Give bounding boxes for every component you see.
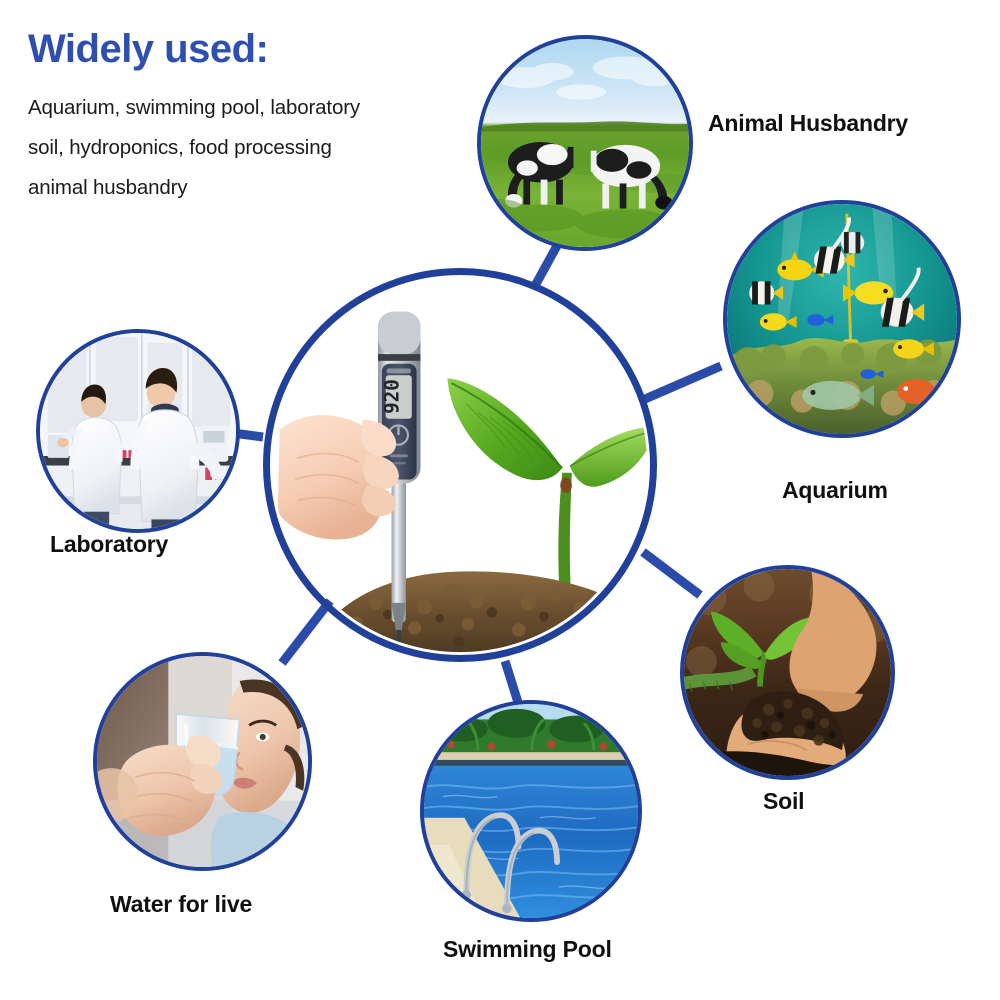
node-water-for-live[interactable]	[93, 652, 312, 871]
label-water-for-live: Water for live	[110, 891, 252, 918]
label-soil: Soil	[763, 788, 804, 815]
coral-reef-fish-illustration	[727, 204, 957, 434]
soil-photo	[684, 569, 891, 776]
animal-husbandry-photo	[481, 39, 689, 247]
hub-circle: 920	[263, 268, 657, 662]
soil-meter-illustration: 920	[270, 275, 650, 655]
node-laboratory[interactable]	[36, 329, 240, 533]
swimming-pool-photo	[424, 704, 638, 918]
cows-pasture-illustration	[481, 39, 689, 247]
node-soil[interactable]	[680, 565, 895, 780]
woman-drinking-water-illustration	[97, 656, 308, 867]
meter-reading: 920	[381, 379, 404, 414]
node-animal-husbandry[interactable]	[477, 35, 693, 251]
node-swimming-pool[interactable]	[420, 700, 642, 922]
label-aquarium: Aquarium	[782, 477, 888, 504]
label-animal-husbandry: Animal Husbandry	[708, 110, 908, 137]
node-aquarium[interactable]	[723, 200, 961, 438]
label-swimming-pool: Swimming Pool	[443, 936, 612, 963]
scientists-lab-illustration	[40, 333, 236, 529]
water-for-live-photo	[97, 656, 308, 867]
aquarium-photo	[727, 204, 957, 434]
hands-planting-seedling-illustration	[684, 569, 891, 776]
pool-ladder-palms-illustration	[424, 704, 638, 918]
infographic-root: Widely used: Aquarium, swimming pool, la…	[0, 0, 1000, 1000]
laboratory-photo	[40, 333, 236, 529]
label-laboratory: Laboratory	[50, 531, 168, 558]
hub-scene: 920	[270, 275, 650, 655]
